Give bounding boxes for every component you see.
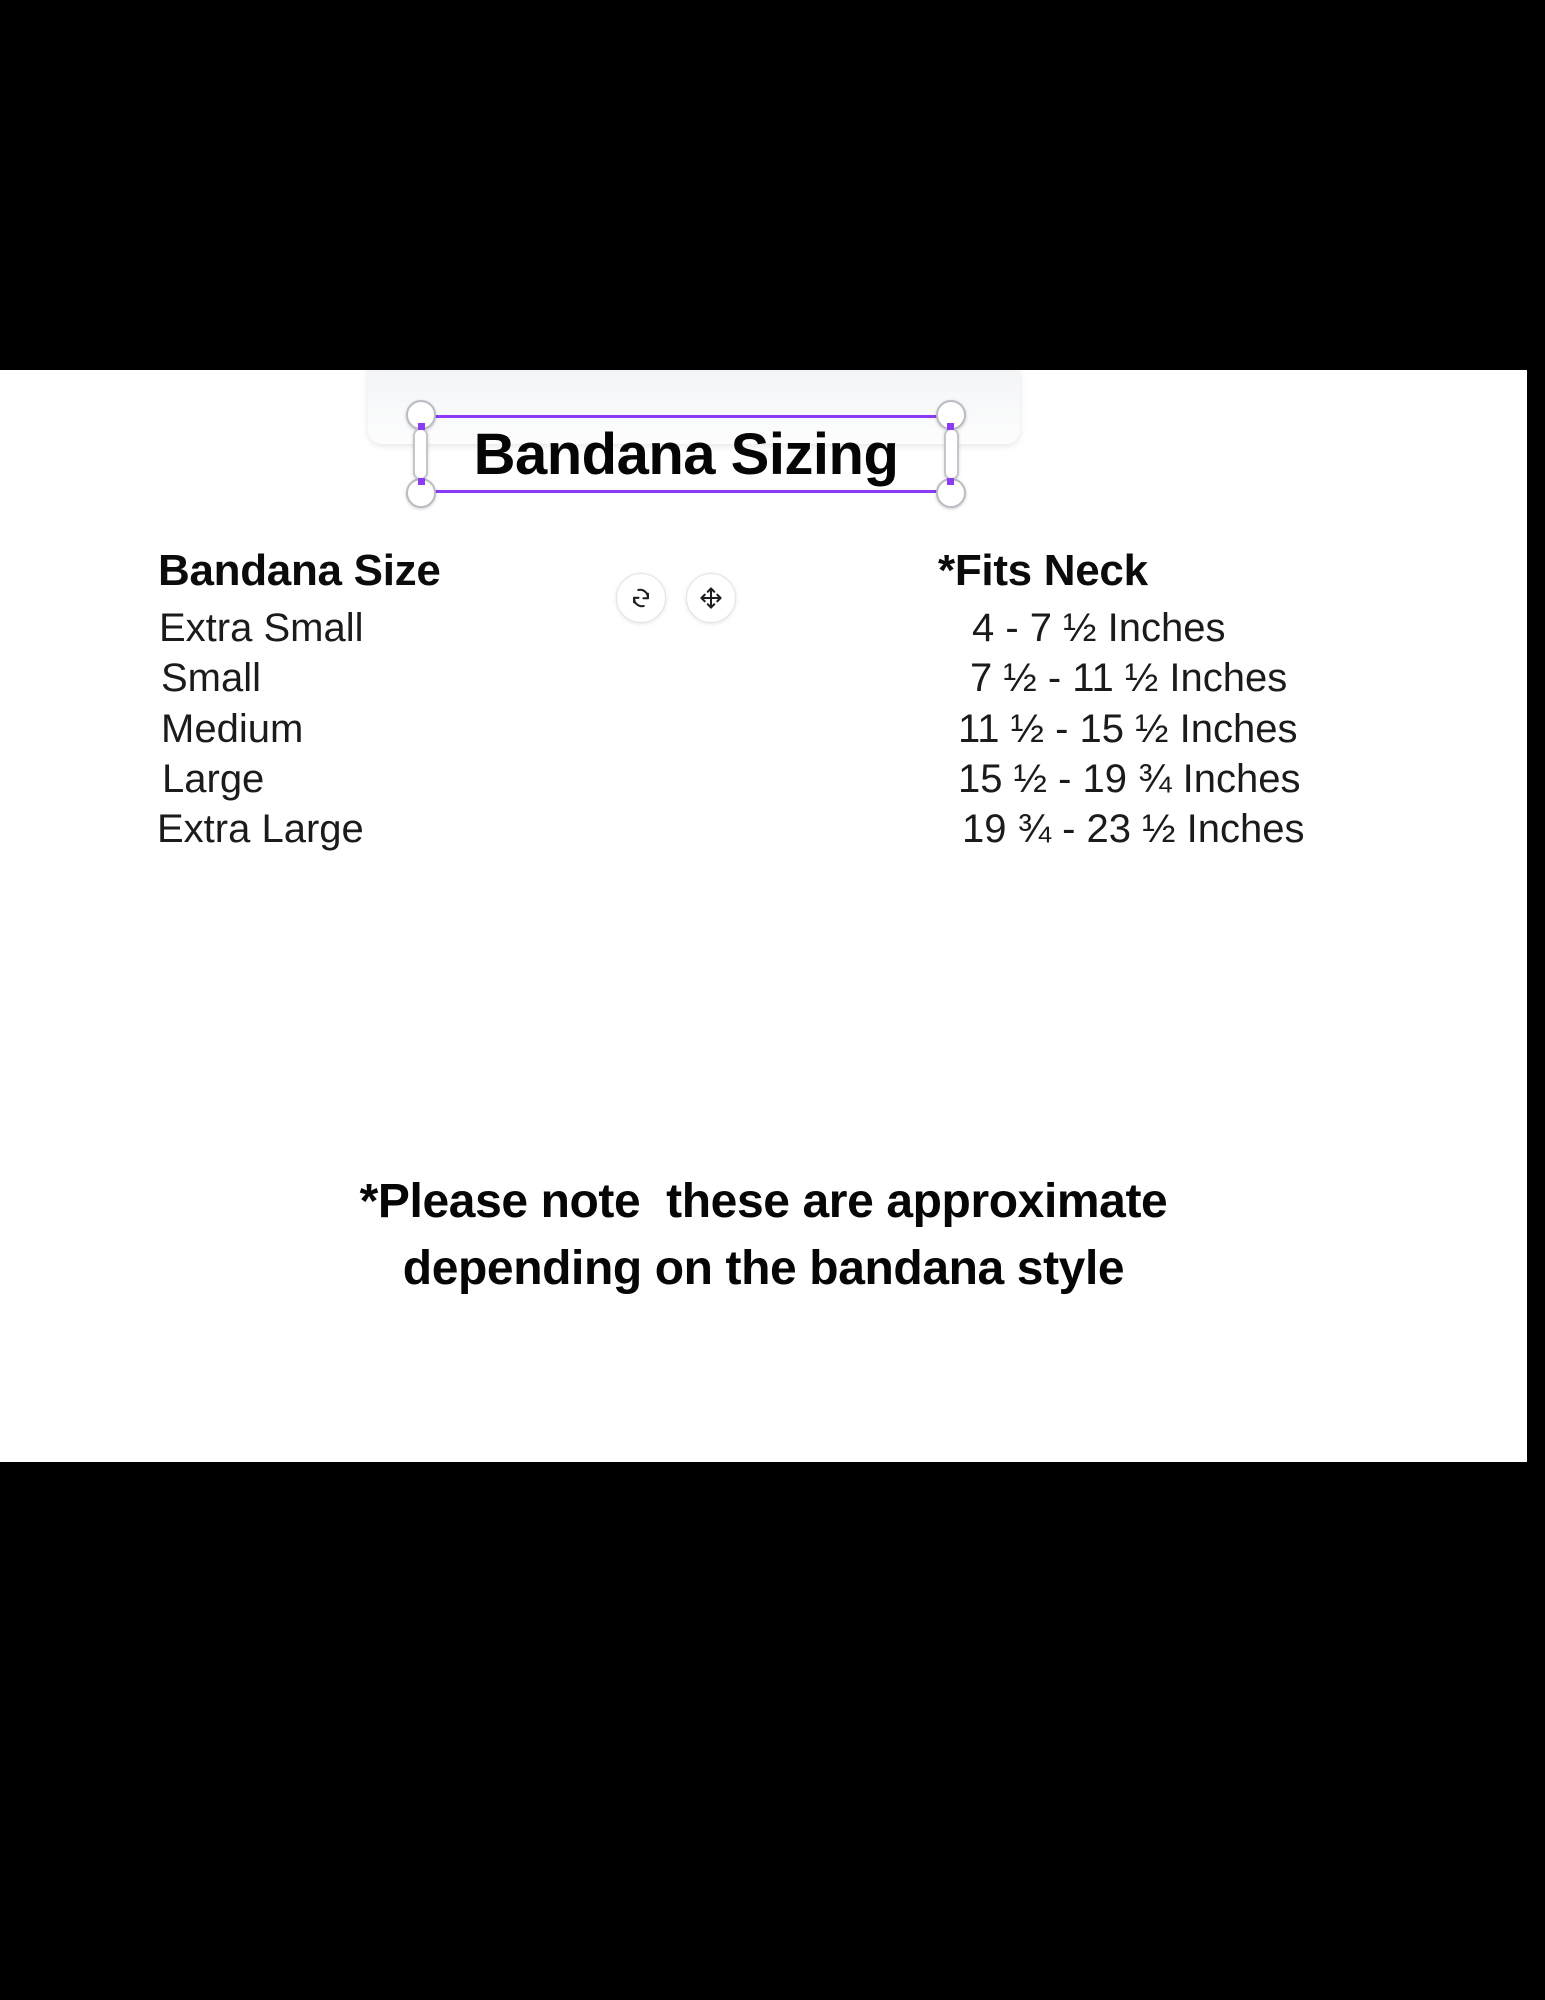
screen-root: Bandana Sizing: [0, 0, 1545, 2000]
resize-handle-left[interactable]: [413, 428, 428, 480]
anchor-dot-left-bottom: [418, 478, 425, 485]
table-row: Medium 11 ½ - 15 ½ Inches: [0, 704, 1527, 754]
title-text-box[interactable]: Bandana Sizing: [421, 415, 951, 493]
header-fits-neck: *Fits Neck: [640, 545, 1400, 603]
table-row: Small 7 ½ - 11 ½ Inches: [0, 653, 1527, 703]
cell-neck: 19 ¾ - 23 ½ Inches: [640, 804, 1400, 854]
cell-neck: 11 ½ - 15 ½ Inches: [640, 704, 1400, 754]
page-title[interactable]: Bandana Sizing: [421, 415, 951, 493]
cell-size: Extra Small: [0, 603, 640, 653]
footnote-line-2: depending on the bandana style: [0, 1235, 1527, 1302]
anchor-dot-right-top: [947, 423, 954, 430]
cell-size: Extra Large: [0, 804, 640, 854]
slide-canvas[interactable]: Bandana Sizing: [0, 370, 1527, 1462]
cell-size: Small: [0, 653, 640, 703]
cell-neck: 15 ½ - 19 ¾ Inches: [640, 754, 1400, 804]
cell-size: Large: [0, 754, 640, 804]
cell-neck: 4 - 7 ½ Inches: [640, 603, 1400, 653]
footnote[interactable]: *Please note these are approximate depen…: [0, 1168, 1527, 1302]
sizing-table[interactable]: Bandana Size *Fits Neck Extra Small 4 - …: [0, 545, 1527, 855]
cell-size: Medium: [0, 704, 640, 754]
anchor-dot-left-top: [418, 423, 425, 430]
anchor-dot-right-bottom: [947, 478, 954, 485]
header-bandana-size: Bandana Size: [0, 545, 640, 603]
footnote-line-1: *Please note these are approximate: [0, 1168, 1527, 1235]
table-row: Large 15 ½ - 19 ¾ Inches: [0, 754, 1527, 804]
cell-neck: 7 ½ - 11 ½ Inches: [640, 653, 1400, 703]
resize-handle-right[interactable]: [944, 428, 959, 480]
table-header-row: Bandana Size *Fits Neck: [0, 545, 1527, 603]
table-row: Extra Large 19 ¾ - 23 ½ Inches: [0, 804, 1527, 854]
table-row: Extra Small 4 - 7 ½ Inches: [0, 603, 1527, 653]
